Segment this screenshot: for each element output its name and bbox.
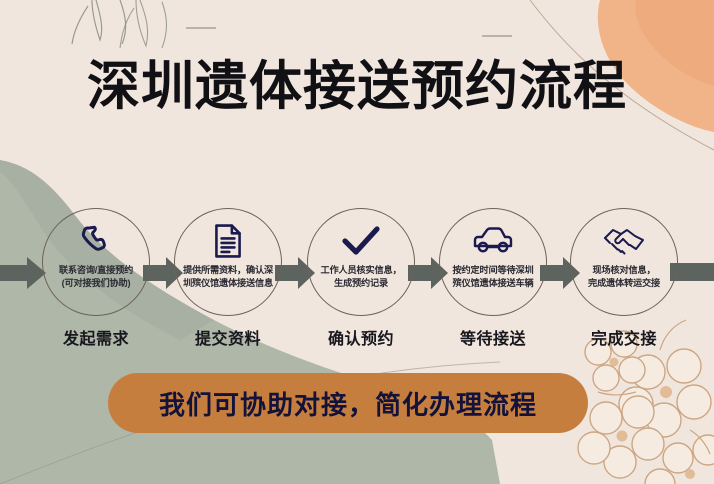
flower-1	[619, 349, 711, 437]
flower-3	[645, 435, 714, 484]
step-desc-4: 按约定时间等待深圳 殡仪馆遗体接送车辆	[435, 264, 551, 289]
step-desc-2-line1: 提供所需资料，确认深	[170, 264, 286, 277]
step-label-3: 确认预约	[295, 325, 427, 349]
step-label-4: 等待接送	[427, 325, 559, 349]
step-desc-1-line1: 联系咨询/直接预约	[38, 264, 154, 277]
step-circle-2: 提供所需资料，确认深 圳殡仪馆遗体接送信息	[174, 208, 282, 316]
document-icon	[212, 220, 244, 262]
leaf-strokes	[72, 0, 126, 44]
step-desc-1-line2: (可对接我们协助)	[38, 277, 154, 290]
phone-icon	[79, 220, 113, 262]
leaf-strokes-2	[120, 0, 167, 48]
step-circle-1: 联系咨询/直接预约 (可对接我们协助)	[42, 208, 150, 316]
step-circle-3: 工作人员核实信息， 生成预约记录	[307, 208, 415, 316]
flow-step-5[interactable]: 现场核对信息， 完成遗体转运交接 完成交接	[558, 208, 690, 358]
flow-step-4[interactable]: 按约定时间等待深圳 殡仪馆遗体接送车辆 等待接送	[427, 208, 559, 358]
step-circle-4: 按约定时间等待深圳 殡仪馆遗体接送车辆	[439, 208, 547, 316]
step-desc-5-line1: 现场核对信息，	[566, 264, 682, 277]
step-desc-3: 工作人员核实信息， 生成预约记录	[303, 264, 419, 289]
step-circle-5: 现场核对信息， 完成遗体转运交接	[570, 208, 678, 316]
flow-step-1[interactable]: 联系咨询/直接预约 (可对接我们协助) 发起需求	[30, 208, 162, 358]
handshake-icon	[603, 220, 645, 262]
check-icon	[341, 220, 381, 262]
poster-canvas: 深圳遗体接送预约流程	[0, 0, 714, 484]
step-desc-5-line2: 完成遗体转运交接	[566, 277, 682, 290]
flow-step-2[interactable]: 提供所需资料，确认深 圳殡仪馆遗体接送信息 提交资料	[162, 208, 294, 358]
car-icon	[471, 220, 515, 262]
step-label-1: 发起需求	[30, 325, 162, 349]
step-desc-4-line2: 殡仪馆遗体接送车辆	[435, 277, 551, 290]
flow-step-3[interactable]: 工作人员核实信息， 生成预约记录 确认预约	[295, 208, 427, 358]
step-desc-1: 联系咨询/直接预约 (可对接我们协助)	[38, 264, 154, 289]
step-desc-3-line2: 生成预约记录	[303, 277, 419, 290]
step-desc-3-line1: 工作人员核实信息，	[303, 264, 419, 277]
page-title: 深圳遗体接送预约流程	[0, 44, 714, 120]
step-desc-2: 提供所需资料，确认深 圳殡仪馆遗体接送信息	[170, 264, 286, 289]
step-desc-2-line2: 圳殡仪馆遗体接送信息	[170, 277, 286, 290]
flower-2	[578, 396, 664, 478]
process-flow: 联系咨询/直接预约 (可对接我们协助) 发起需求	[0, 208, 714, 358]
step-label-5: 完成交接	[558, 325, 690, 349]
cta-banner[interactable]: 我们可协助对接，简化办理流程	[108, 373, 588, 433]
step-label-2: 提交资料	[162, 325, 294, 349]
step-desc-5: 现场核对信息， 完成遗体转运交接	[566, 264, 682, 289]
step-desc-4-line1: 按约定时间等待深圳	[435, 264, 551, 277]
cta-banner-text: 我们可协助对接，简化办理流程	[159, 385, 537, 422]
